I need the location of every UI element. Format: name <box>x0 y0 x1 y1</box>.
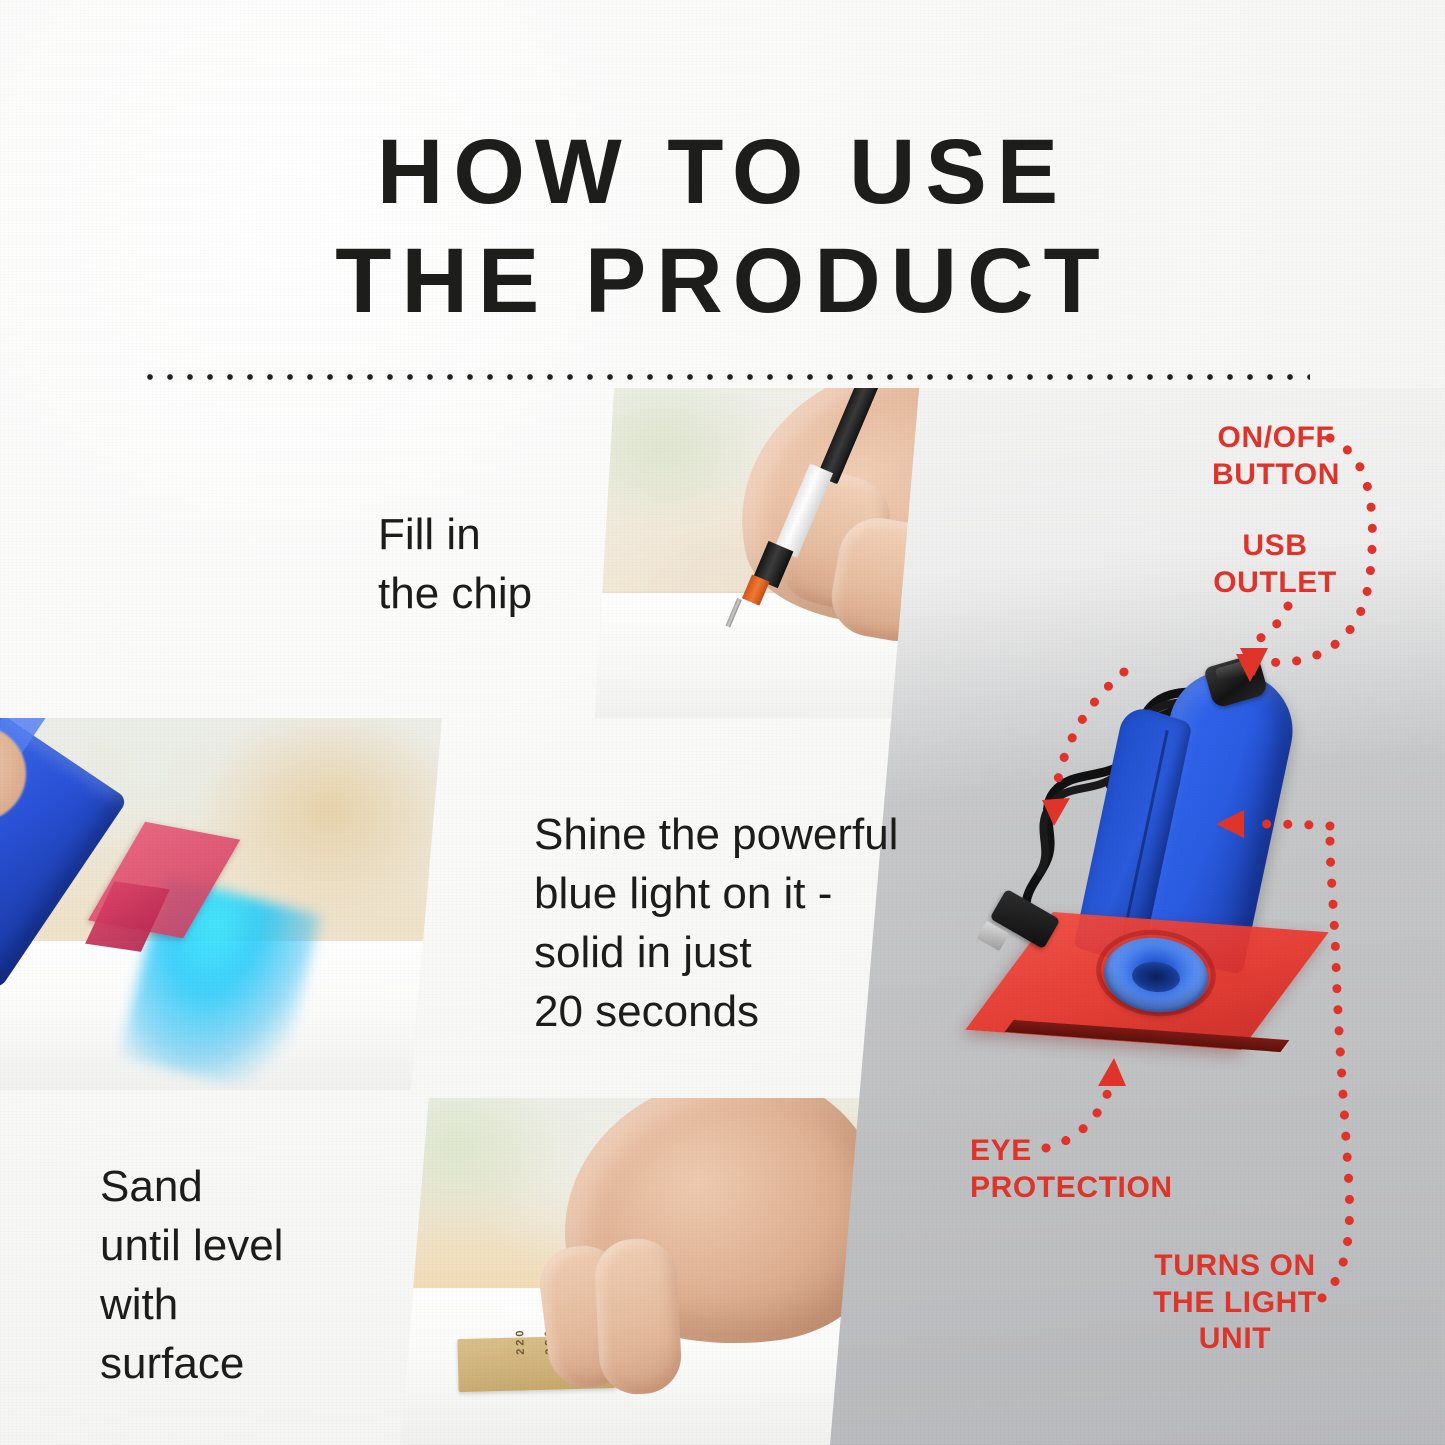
page-title: HOW TO USE THE PRODUCT <box>0 118 1445 335</box>
callout-usb-outlet: USB OUTLET <box>1176 528 1374 601</box>
callout-turns-on-the-light-unit: TURNS ON THE LIGHT UNIT <box>1120 1248 1350 1358</box>
dotted-divider <box>140 372 1310 382</box>
callout-eye-protection: EYE PROTECTION <box>970 1133 1220 1206</box>
step-label-fill: Fill in the chip <box>378 506 532 624</box>
product-device-illustration <box>980 650 1350 1110</box>
photo-blue-light <box>0 718 442 1090</box>
title-line-1: HOW TO USE <box>0 118 1445 227</box>
finger-graphic <box>593 1237 683 1396</box>
photo-sanding: 220 220 220 <box>400 1098 880 1445</box>
sandpaper-grit-label: 220 <box>514 1327 527 1355</box>
step-label-sand: Sand until level with surface <box>100 1158 283 1394</box>
step-label-shine: Shine the powerful blue light on it - so… <box>534 806 898 1042</box>
callout-on-off-button: ON/OFF BUTTON <box>1172 420 1380 493</box>
title-line-2: THE PRODUCT <box>0 227 1445 336</box>
infographic-root: HOW TO USE THE PRODUCT 220 220 220 <box>0 0 1445 1445</box>
